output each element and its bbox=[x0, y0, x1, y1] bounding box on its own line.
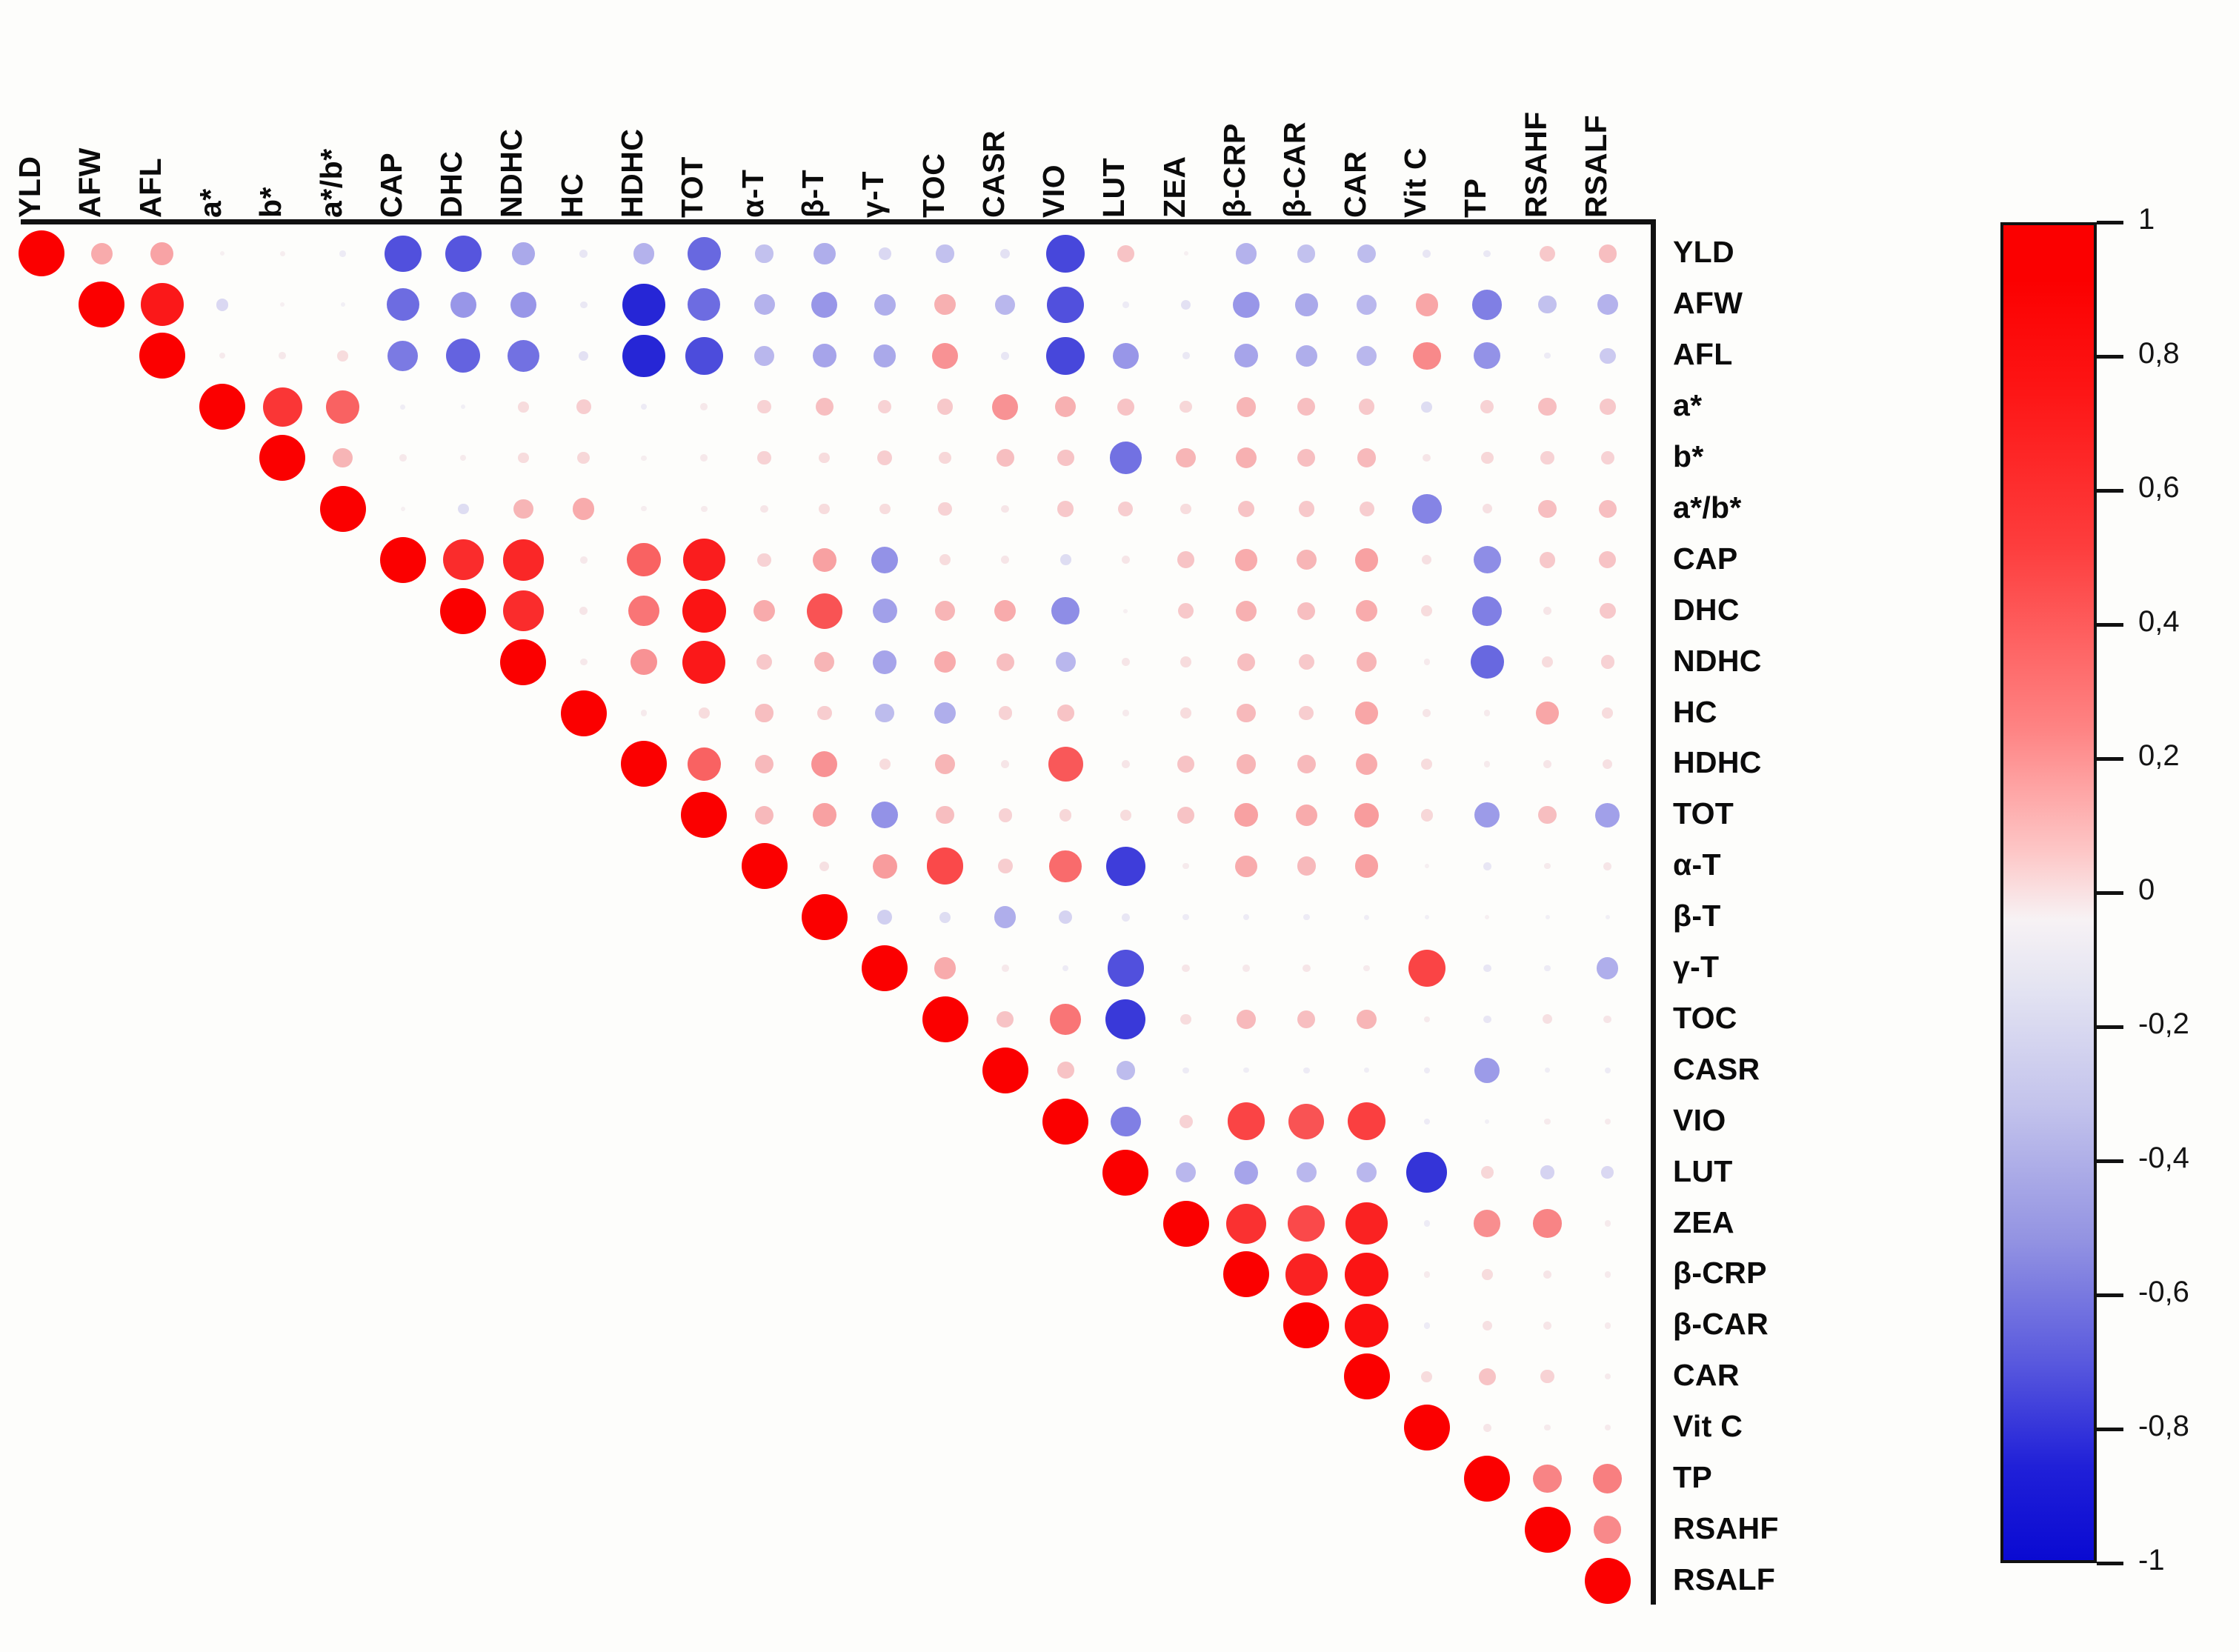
correlation-cell bbox=[1421, 402, 1432, 413]
correlation-cell bbox=[1182, 914, 1188, 920]
colorbar-tick bbox=[2097, 1293, 2123, 1297]
correlation-cell bbox=[1424, 1119, 1430, 1125]
correlation-cell bbox=[1474, 1058, 1500, 1083]
correlation-cell bbox=[1605, 1373, 1611, 1379]
correlation-cell bbox=[1345, 1304, 1389, 1348]
correlation-cell bbox=[1177, 807, 1194, 824]
correlation-cell bbox=[1424, 1271, 1430, 1277]
column-label-afl: AFL bbox=[133, 158, 168, 218]
correlation-cell bbox=[399, 454, 407, 462]
correlation-cell bbox=[927, 847, 964, 885]
correlation-cell bbox=[932, 343, 958, 369]
correlation-cell bbox=[1425, 915, 1429, 919]
correlation-cell bbox=[813, 803, 836, 827]
correlation-cell bbox=[1296, 805, 1317, 826]
correlation-cell bbox=[1542, 656, 1553, 667]
correlation-cell bbox=[819, 862, 829, 871]
correlation-cell bbox=[1180, 1115, 1193, 1128]
correlation-cell bbox=[1412, 494, 1441, 523]
correlation-cell bbox=[1122, 760, 1130, 768]
correlation-cell bbox=[1601, 655, 1614, 668]
correlation-cell bbox=[1122, 658, 1130, 666]
correlation-cell bbox=[862, 945, 908, 991]
correlation-cell bbox=[1163, 1201, 1209, 1247]
correlation-cell bbox=[1237, 704, 1256, 723]
correlation-cell bbox=[627, 543, 660, 576]
correlation-cell bbox=[1180, 656, 1191, 667]
correlation-cell bbox=[1354, 803, 1379, 827]
correlation-cell bbox=[1122, 302, 1128, 307]
column-label-a: a* bbox=[193, 188, 228, 218]
colorbar-tick bbox=[2097, 221, 2123, 224]
correlation-cell bbox=[1001, 352, 1009, 360]
correlation-cell bbox=[1283, 1302, 1329, 1348]
correlation-cell bbox=[1181, 300, 1191, 310]
correlation-cell bbox=[873, 854, 897, 879]
correlation-cell bbox=[216, 299, 229, 311]
correlation-cell bbox=[683, 539, 725, 581]
correlation-cell bbox=[935, 754, 955, 774]
correlation-cell bbox=[753, 600, 775, 622]
row-label-lut: LUT bbox=[1673, 1156, 1733, 1187]
correlation-cell bbox=[874, 344, 896, 367]
correlation-cell bbox=[819, 453, 830, 464]
correlation-cell bbox=[580, 556, 588, 564]
correlation-cell bbox=[1603, 862, 1611, 870]
correlation-cell bbox=[1182, 863, 1188, 869]
column-label-t: β-T bbox=[796, 170, 831, 218]
correlation-cell bbox=[1597, 957, 1618, 979]
correlation-cell bbox=[1525, 1507, 1571, 1553]
correlation-cell bbox=[1425, 864, 1429, 868]
correlation-cell bbox=[871, 547, 898, 573]
correlation-cell bbox=[939, 452, 951, 464]
row-label-casr: CASR bbox=[1673, 1054, 1760, 1085]
correlation-cell bbox=[937, 399, 953, 414]
correlation-cell bbox=[1408, 950, 1446, 987]
correlation-cell bbox=[936, 244, 954, 262]
correlation-cell bbox=[280, 251, 285, 256]
correlation-cell bbox=[1544, 1425, 1550, 1430]
column-label-zea: ZEA bbox=[1157, 156, 1192, 219]
correlation-cell bbox=[631, 649, 656, 675]
correlation-cell bbox=[1122, 556, 1130, 564]
correlation-cell bbox=[1585, 1558, 1631, 1604]
correlation-cell bbox=[755, 244, 773, 262]
colorbar-tick-label: 0,8 bbox=[2138, 337, 2180, 370]
correlation-cell bbox=[445, 236, 482, 272]
correlation-cell bbox=[1600, 348, 1615, 364]
colorbar-tick-label: 0 bbox=[2138, 873, 2155, 907]
correlation-cell bbox=[936, 806, 954, 824]
correlation-cell bbox=[1117, 1061, 1136, 1080]
correlation-cell bbox=[1421, 759, 1432, 770]
correlation-cell bbox=[819, 504, 830, 515]
correlation-cell bbox=[1357, 1010, 1377, 1030]
correlation-cell bbox=[1234, 1161, 1258, 1185]
correlation-cell bbox=[877, 450, 892, 465]
correlation-cell bbox=[1122, 913, 1130, 922]
correlation-cell bbox=[1243, 914, 1249, 920]
correlation-cell bbox=[1106, 847, 1145, 886]
correlation-cell bbox=[1117, 245, 1134, 262]
correlation-cell bbox=[1180, 401, 1192, 413]
correlation-cell bbox=[688, 237, 721, 270]
correlation-cell bbox=[1483, 862, 1491, 870]
correlation-cell bbox=[1544, 965, 1550, 971]
correlation-cell bbox=[879, 504, 891, 515]
row-label-rsalf: RSALF bbox=[1673, 1565, 1775, 1595]
correlation-cell bbox=[460, 455, 466, 461]
correlation-cell bbox=[400, 404, 405, 410]
correlation-cell bbox=[681, 792, 727, 838]
correlation-cell bbox=[1464, 1456, 1510, 1502]
colorbar-tick bbox=[2097, 1562, 2123, 1565]
correlation-cell bbox=[1000, 249, 1010, 259]
column-label-vitc: Vit C bbox=[1398, 147, 1433, 218]
correlation-cell bbox=[878, 400, 891, 413]
correlation-cell bbox=[1345, 1202, 1387, 1244]
correlation-cell bbox=[992, 394, 1018, 420]
row-label-t: α-T bbox=[1673, 850, 1721, 880]
colorbar-tick-label: 1 bbox=[2138, 203, 2155, 236]
correlation-cell bbox=[922, 996, 968, 1042]
correlation-cell bbox=[1538, 398, 1556, 416]
correlation-cell bbox=[1120, 810, 1131, 821]
correlation-cell bbox=[754, 346, 774, 366]
correlation-cell bbox=[1108, 950, 1145, 987]
correlation-cell bbox=[326, 390, 359, 424]
correlation-cell bbox=[1594, 1516, 1621, 1543]
correlation-cell bbox=[1122, 710, 1128, 716]
correlation-cell bbox=[333, 448, 353, 468]
row-label-a: a* bbox=[1673, 390, 1702, 421]
row-label-car: CAR bbox=[1673, 1360, 1740, 1390]
correlation-cell bbox=[1297, 856, 1317, 876]
correlation-cell bbox=[1356, 753, 1377, 775]
correlation-cell bbox=[1296, 345, 1317, 367]
correlation-cell bbox=[579, 351, 588, 361]
correlation-cell bbox=[1102, 1150, 1148, 1196]
correlation-cell bbox=[641, 404, 647, 410]
row-label-crp: β-CRP bbox=[1673, 1258, 1767, 1288]
correlation-cell bbox=[1357, 346, 1377, 366]
column-label-rsahf: RSAHF bbox=[1519, 111, 1554, 218]
correlation-cell bbox=[1123, 609, 1128, 613]
correlation-cell bbox=[622, 335, 665, 377]
correlation-cell bbox=[701, 506, 707, 512]
row-label-cap: CAP bbox=[1673, 544, 1737, 574]
correlation-cell bbox=[1226, 1204, 1266, 1244]
row-label-hdhc: HDHC bbox=[1673, 747, 1762, 778]
correlation-cell bbox=[879, 759, 891, 770]
correlation-cell bbox=[446, 339, 480, 373]
correlation-matrix-figure: YLDAFWAFLa*b*a*/b*CAPDHCNDHCHCHDHCTOTα-T… bbox=[0, 0, 2239, 1652]
row-label-afl: AFL bbox=[1673, 339, 1733, 370]
correlation-cell bbox=[139, 333, 185, 379]
correlation-cell bbox=[682, 589, 726, 633]
correlation-cell bbox=[1423, 250, 1431, 258]
correlation-cell bbox=[682, 641, 725, 684]
correlation-cell bbox=[577, 452, 590, 464]
colorbar-tick bbox=[2097, 489, 2123, 493]
correlation-cell bbox=[813, 344, 836, 367]
correlation-cell bbox=[1533, 1465, 1561, 1493]
correlation-cell bbox=[518, 453, 529, 464]
correlation-cell bbox=[580, 659, 588, 666]
row-label-t: β-T bbox=[1673, 901, 1721, 931]
column-label-car: β-CAR bbox=[1277, 121, 1312, 218]
correlation-cell bbox=[1474, 546, 1501, 573]
correlation-cell bbox=[1363, 965, 1369, 971]
correlation-cell bbox=[320, 486, 366, 532]
correlation-cell bbox=[1223, 1251, 1269, 1297]
correlation-cell bbox=[1404, 1405, 1450, 1451]
correlation-cell bbox=[279, 352, 286, 359]
correlation-cell bbox=[939, 912, 951, 923]
correlation-cell bbox=[440, 588, 486, 634]
correlation-cell bbox=[1299, 706, 1314, 721]
correlation-cell bbox=[1059, 910, 1072, 924]
correlation-cell bbox=[934, 651, 956, 673]
column-label-toc: TOC bbox=[916, 153, 951, 218]
correlation-cell bbox=[341, 302, 345, 307]
column-label-axis: YLDAFWAFLa*b*a*/b*CAPDHCNDHCHCHDHCTOTα-T… bbox=[0, 0, 1674, 222]
correlation-cell bbox=[1533, 1209, 1561, 1237]
column-label-hdhc: HDHC bbox=[615, 129, 650, 218]
correlation-cell bbox=[700, 454, 708, 462]
correlation-cell bbox=[513, 499, 533, 519]
correlation-cell bbox=[628, 596, 659, 626]
correlation-cell bbox=[387, 288, 419, 321]
correlation-cell bbox=[1105, 999, 1145, 1039]
correlation-cell bbox=[1235, 549, 1257, 570]
column-label-t: γ-T bbox=[856, 171, 891, 218]
column-label-t: α-T bbox=[736, 170, 771, 218]
correlation-cell bbox=[1297, 449, 1315, 467]
correlation-cell bbox=[685, 337, 723, 375]
row-label-vitc: Vit C bbox=[1673, 1411, 1743, 1442]
correlation-cell bbox=[1299, 501, 1314, 516]
colorbar-tick-label: -0,6 bbox=[2138, 1276, 2189, 1309]
correlation-cell bbox=[1413, 342, 1440, 370]
correlation-cell bbox=[339, 250, 345, 256]
correlation-cell bbox=[1288, 1104, 1324, 1139]
correlation-cell bbox=[1056, 652, 1076, 672]
correlation-cell bbox=[443, 539, 484, 580]
column-label-dhc: DHC bbox=[434, 151, 469, 218]
correlation-cell bbox=[875, 704, 894, 723]
row-label-tp: TP bbox=[1673, 1462, 1712, 1493]
correlation-cell bbox=[877, 910, 892, 925]
correlation-cell bbox=[1480, 400, 1494, 413]
correlation-cell bbox=[259, 435, 305, 481]
correlation-cell bbox=[995, 295, 1015, 315]
correlation-cell bbox=[1303, 1068, 1309, 1073]
correlation-cell bbox=[1046, 235, 1084, 273]
correlation-cell bbox=[755, 806, 774, 825]
correlation-cell bbox=[873, 650, 896, 674]
correlation-cell bbox=[1538, 806, 1556, 824]
correlation-cell bbox=[1118, 502, 1133, 516]
correlation-cell bbox=[755, 755, 774, 774]
correlation-cell bbox=[935, 601, 955, 621]
colorbar-tick bbox=[2097, 623, 2123, 627]
correlation-cell bbox=[633, 243, 654, 264]
correlation-cell bbox=[1057, 705, 1074, 722]
correlation-cell bbox=[1543, 1014, 1552, 1024]
correlation-cell bbox=[1416, 293, 1439, 316]
correlation-cell bbox=[814, 243, 835, 264]
column-label-rsalf: RSALF bbox=[1579, 115, 1614, 218]
correlation-cell bbox=[982, 1048, 1028, 1093]
colorbar-tick-label: -1 bbox=[2138, 1544, 2165, 1577]
colorbar-tick bbox=[2097, 1428, 2123, 1431]
correlation-cell bbox=[1600, 603, 1615, 619]
correlation-cell bbox=[934, 957, 956, 979]
row-label-ndhc: NDHC bbox=[1673, 646, 1762, 676]
correlation-cell bbox=[1540, 1370, 1554, 1383]
correlation-cell bbox=[385, 236, 422, 273]
correlation-cell bbox=[1177, 551, 1194, 568]
correlation-cell bbox=[337, 350, 348, 362]
correlation-cell bbox=[450, 292, 476, 318]
correlation-cell bbox=[1055, 396, 1076, 417]
colorbar-tick-label: -0,4 bbox=[2138, 1142, 2189, 1175]
correlation-cell bbox=[1059, 809, 1072, 822]
correlation-cell bbox=[998, 859, 1013, 873]
correlation-cell bbox=[500, 639, 546, 685]
row-label-b: b* bbox=[1673, 442, 1704, 472]
correlation-cell bbox=[1544, 353, 1550, 359]
correlation-cell bbox=[994, 906, 1016, 927]
correlation-cell bbox=[1472, 596, 1502, 626]
correlation-cell bbox=[579, 250, 588, 258]
correlation-cell bbox=[1593, 1464, 1622, 1493]
row-label-ab: a*/b* bbox=[1673, 493, 1742, 523]
correlation-cell bbox=[573, 498, 594, 519]
correlation-cell bbox=[1180, 707, 1191, 719]
correlation-cell bbox=[1357, 1162, 1377, 1182]
correlation-cell bbox=[1184, 251, 1188, 256]
correlation-cell bbox=[1297, 755, 1317, 774]
correlation-cell bbox=[1359, 399, 1374, 414]
correlation-cell bbox=[1057, 1062, 1074, 1079]
correlation-cell bbox=[1483, 1424, 1491, 1432]
correlation-cell bbox=[622, 284, 665, 326]
correlation-cell bbox=[1483, 504, 1492, 513]
colorbar-tick bbox=[2097, 757, 2123, 761]
correlation-cell bbox=[754, 294, 775, 315]
correlation-cell bbox=[1424, 659, 1430, 665]
correlation-cell bbox=[934, 294, 955, 315]
row-label-t: γ-T bbox=[1673, 952, 1719, 982]
correlation-cell bbox=[1603, 1016, 1611, 1024]
correlation-cell bbox=[1605, 1220, 1611, 1226]
correlation-cell bbox=[1540, 451, 1554, 464]
correlation-cell bbox=[1423, 454, 1431, 462]
correlation-cell bbox=[1360, 502, 1374, 516]
correlation-cell bbox=[1297, 398, 1315, 416]
correlation-cell-grid bbox=[22, 224, 1652, 1602]
correlation-cell bbox=[518, 402, 529, 413]
correlation-cell bbox=[1001, 556, 1009, 564]
correlation-cell bbox=[999, 808, 1012, 822]
correlation-cell bbox=[1597, 294, 1618, 315]
correlation-cell bbox=[1234, 803, 1258, 827]
correlation-cell bbox=[1303, 914, 1309, 920]
correlation-cell bbox=[1481, 452, 1494, 464]
correlation-cell bbox=[1176, 448, 1196, 468]
correlation-cell bbox=[1117, 399, 1134, 416]
correlation-cell bbox=[1355, 702, 1378, 725]
correlation-cell bbox=[1606, 915, 1610, 919]
correlation-cell bbox=[1234, 344, 1258, 367]
correlation-cell bbox=[1180, 504, 1191, 515]
correlation-cell bbox=[934, 702, 956, 724]
colorbar-tick bbox=[2097, 891, 2123, 895]
row-label-hc: HC bbox=[1673, 697, 1717, 727]
correlation-cell bbox=[1482, 1269, 1493, 1280]
correlation-cell bbox=[1538, 296, 1556, 313]
correlation-cell bbox=[1242, 965, 1250, 972]
correlation-cell bbox=[999, 706, 1012, 719]
correlation-cell bbox=[1042, 1099, 1088, 1145]
correlation-cell bbox=[641, 506, 646, 511]
correlation-cell bbox=[1288, 1205, 1325, 1242]
row-label-zea: ZEA bbox=[1673, 1208, 1734, 1238]
correlation-cell bbox=[755, 704, 773, 722]
row-label-tot: TOT bbox=[1673, 799, 1734, 829]
correlation-cell bbox=[1236, 447, 1257, 468]
colorbar-tick-label: 0,4 bbox=[2138, 605, 2180, 639]
correlation-cell bbox=[757, 451, 771, 464]
column-label-cap: CAP bbox=[374, 153, 409, 218]
correlation-cell bbox=[1355, 548, 1379, 572]
correlation-cell bbox=[879, 247, 891, 260]
colorbar-legend: 10,80,60,40,20-0,2-0,4-0,6-0,8-1 bbox=[2000, 222, 2223, 1578]
correlation-cell bbox=[1047, 287, 1084, 324]
correlation-cell bbox=[1243, 1068, 1248, 1073]
correlation-cell bbox=[1345, 1253, 1388, 1296]
correlation-cell bbox=[1356, 600, 1377, 622]
correlation-cell bbox=[1485, 915, 1489, 919]
column-label-b: b* bbox=[253, 187, 288, 218]
correlation-cell bbox=[1599, 551, 1616, 568]
correlation-cell bbox=[1423, 709, 1431, 717]
correlation-cell bbox=[150, 242, 173, 265]
correlation-cell bbox=[1543, 1322, 1551, 1330]
correlation-cell bbox=[938, 502, 951, 516]
correlation-cell bbox=[641, 456, 646, 461]
correlation-cell bbox=[79, 282, 124, 327]
correlation-cell bbox=[580, 302, 588, 309]
correlation-cell bbox=[1484, 761, 1490, 767]
correlation-cell bbox=[1602, 707, 1613, 719]
correlation-cell bbox=[1237, 754, 1257, 774]
correlation-cell bbox=[997, 653, 1014, 671]
column-label-tot: TOT bbox=[675, 156, 710, 218]
column-label-vio: VIO bbox=[1037, 164, 1071, 218]
correlation-cell bbox=[1474, 342, 1500, 369]
correlation-cell bbox=[1297, 1162, 1317, 1182]
correlation-cell bbox=[1111, 1107, 1140, 1136]
column-label-crp: β-CRP bbox=[1217, 123, 1252, 218]
colorbar-tick-label: -0,8 bbox=[2138, 1410, 2189, 1443]
correlation-cell bbox=[1177, 756, 1194, 773]
row-label-car: β-CAR bbox=[1673, 1309, 1769, 1339]
correlation-cell bbox=[401, 507, 405, 511]
